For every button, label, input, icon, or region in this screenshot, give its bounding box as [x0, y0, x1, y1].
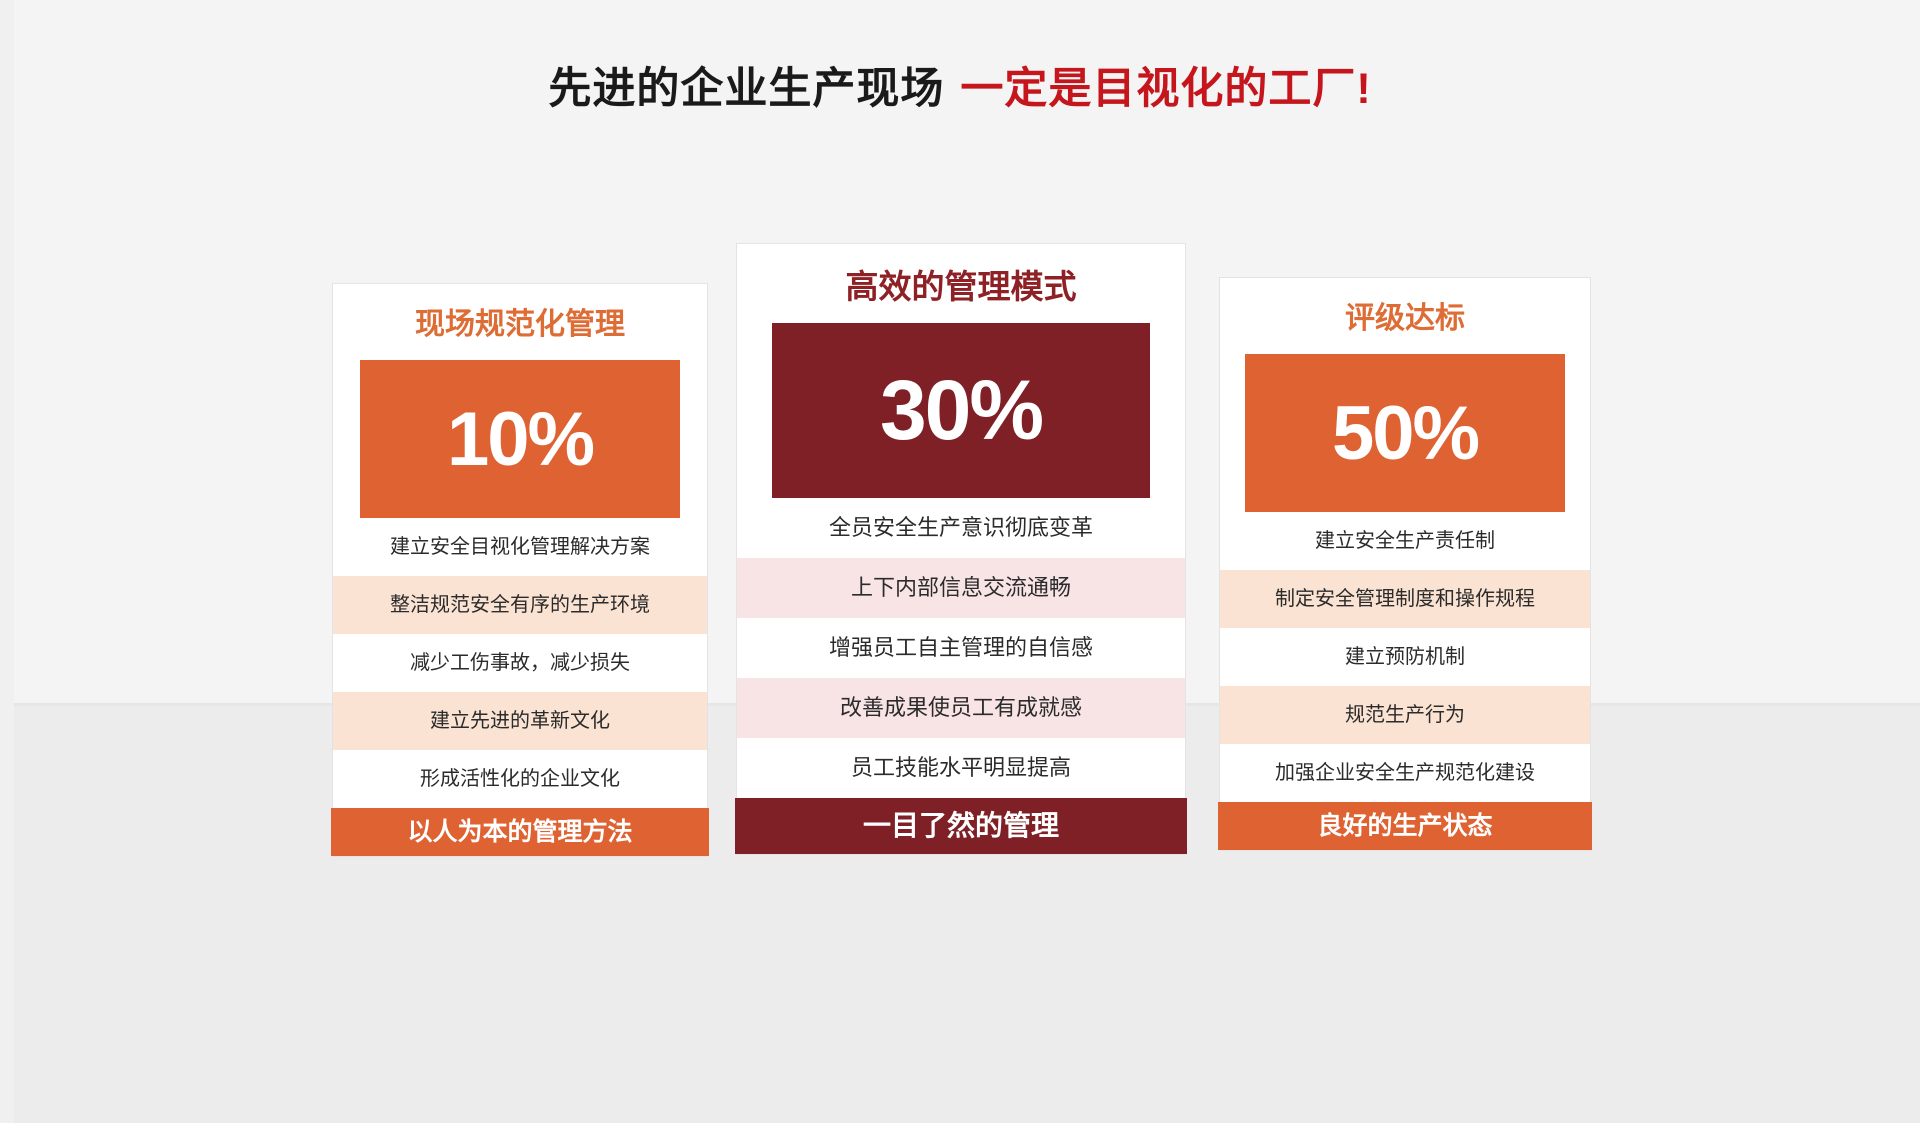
list-item[interactable]: 员工技能水平明显提高: [737, 738, 1185, 798]
card-left-list: 建立安全目视化管理解决方案 整洁规范安全有序的生产环境 减少工伤事故，减少损失 …: [333, 518, 707, 808]
list-item[interactable]: 建立预防机制: [1220, 628, 1590, 686]
card-middle-list: 全员安全生产意识彻底变革 上下内部信息交流通畅 增强员工自主管理的自信感 改善成…: [737, 498, 1185, 798]
list-item[interactable]: 形成活性化的企业文化: [333, 750, 707, 808]
card-left-footer-wrap: 以人为本的管理方法: [333, 808, 707, 856]
list-item[interactable]: 整洁规范安全有序的生产环境: [333, 576, 707, 634]
card-right-footer[interactable]: 良好的生产状态: [1218, 802, 1592, 850]
card-left-percent-value: 10%: [447, 396, 593, 483]
card-right-list: 建立安全生产责任制 制定安全管理制度和操作规程 建立预防机制 规范生产行为 加强…: [1220, 512, 1590, 802]
card-right-heading: 评级达标: [1220, 278, 1590, 354]
card-right-footer-wrap: 良好的生产状态: [1220, 802, 1590, 850]
card-right-percent-block: 50%: [1245, 354, 1565, 512]
list-item[interactable]: 规范生产行为: [1220, 686, 1590, 744]
background-left-strip: [0, 0, 14, 1123]
card-middle-percent-block: 30%: [772, 323, 1150, 498]
slide-title: 先进的企业生产现场一定是目视化的工厂!: [0, 66, 1920, 113]
card-left-footer[interactable]: 以人为本的管理方法: [331, 808, 709, 856]
list-item[interactable]: 增强员工自主管理的自信感: [737, 618, 1185, 678]
card-middle-footer[interactable]: 一目了然的管理: [735, 798, 1187, 854]
list-item[interactable]: 建立先进的革新文化: [333, 692, 707, 750]
slide-canvas: 先进的企业生产现场一定是目视化的工厂! 现场规范化管理 10% 建立安全目视化管…: [0, 0, 1920, 1123]
list-item[interactable]: 制定安全管理制度和操作规程: [1220, 570, 1590, 628]
list-item[interactable]: 改善成果使员工有成就感: [737, 678, 1185, 738]
list-item[interactable]: 减少工伤事故，减少损失: [333, 634, 707, 692]
list-item[interactable]: 建立安全生产责任制: [1220, 512, 1590, 570]
card-middle-footer-wrap: 一目了然的管理: [737, 798, 1185, 854]
list-item[interactable]: 加强企业安全生产规范化建设: [1220, 744, 1590, 802]
list-item[interactable]: 上下内部信息交流通畅: [737, 558, 1185, 618]
card-left-percent-block: 10%: [360, 360, 680, 518]
card-left[interactable]: 现场规范化管理 10% 建立安全目视化管理解决方案 整洁规范安全有序的生产环境 …: [332, 283, 708, 857]
card-right[interactable]: 评级达标 50% 建立安全生产责任制 制定安全管理制度和操作规程 建立预防机制 …: [1219, 277, 1591, 851]
slide-title-primary: 先进的企业生产现场: [548, 65, 944, 113]
card-middle-heading: 高效的管理模式: [737, 244, 1185, 323]
card-right-percent-value: 50%: [1332, 390, 1478, 477]
list-item[interactable]: 建立安全目视化管理解决方案: [333, 518, 707, 576]
card-middle-percent-value: 30%: [880, 362, 1042, 459]
card-middle[interactable]: 高效的管理模式 30% 全员安全生产意识彻底变革 上下内部信息交流通畅 增强员工…: [736, 243, 1186, 855]
list-item[interactable]: 全员安全生产意识彻底变革: [737, 498, 1185, 558]
card-left-heading: 现场规范化管理: [333, 284, 707, 360]
slide-title-accent: 一定是目视化的工厂!: [960, 65, 1371, 113]
